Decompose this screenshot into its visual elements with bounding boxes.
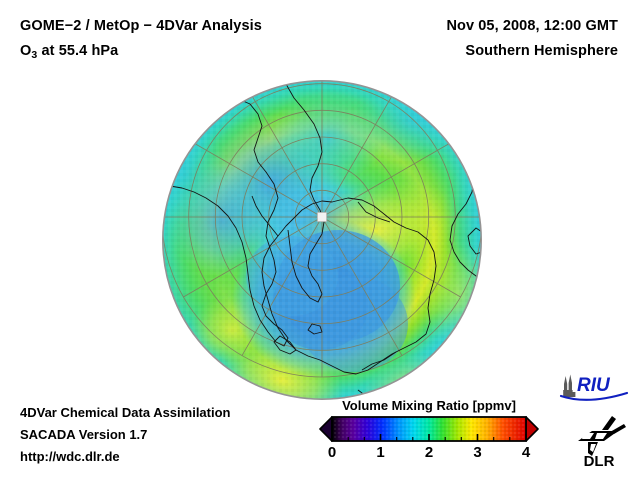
figure-canvas: GOME−2 / MetOp − 4DVar Analysis O3 at 55… [0, 0, 640, 480]
colorbar-tick-label: 1 [376, 444, 384, 461]
south-pole-marker [318, 213, 327, 222]
colorbar-tick-label: 3 [473, 444, 481, 461]
colorbar-tick-label: 0 [328, 444, 336, 461]
colorbar-tick-labels: 0 1 2 3 4 [318, 444, 540, 468]
species-level-subtitle: O3 at 55.4 hPa [20, 43, 118, 59]
dlr-logo[interactable]: DLR [572, 414, 628, 475]
riu-logo[interactable]: RIU [558, 371, 630, 410]
ozone-field-plot [162, 80, 482, 400]
footer-line-version: SACADA Version 1.7 [20, 424, 231, 446]
riu-logo-mark: RIU [558, 371, 630, 405]
pressure-level-label: at 55.4 hPa [37, 43, 118, 59]
dlr-pinwheel-icon [578, 416, 626, 456]
species-subscript: 3 [31, 49, 37, 61]
dlr-logo-mark: DLR [572, 414, 628, 470]
dlr-wordmark: DLR [584, 453, 615, 470]
timestamp-label: Nov 05, 2008, 12:00 GMT [446, 18, 618, 34]
colorbar-title: Volume Mixing Ratio [ppmv] [318, 398, 540, 413]
cathedral-icon [563, 375, 575, 398]
species-symbol: O [20, 43, 31, 59]
footer-line-url[interactable]: http://wdc.dlr.de [20, 446, 231, 468]
page-title: GOME−2 / MetOp − 4DVar Analysis [20, 18, 262, 34]
region-label: Southern Hemisphere [465, 43, 618, 59]
colorbar-extend-high [526, 417, 538, 441]
colorbar-tick-label: 2 [425, 444, 433, 461]
footer-line-assimilation: 4DVar Chemical Data Assimilation [20, 402, 231, 424]
colorbar-scale [318, 416, 540, 442]
colorbar: Volume Mixing Ratio [ppmv] [318, 398, 540, 476]
riu-wordmark: RIU [577, 375, 611, 396]
footer-credits: 4DVar Chemical Data Assimilation SACADA … [20, 402, 231, 468]
polar-map-globe [162, 80, 482, 400]
colorbar-extend-low [320, 417, 332, 441]
colorbar-tick-label: 4 [522, 444, 530, 461]
